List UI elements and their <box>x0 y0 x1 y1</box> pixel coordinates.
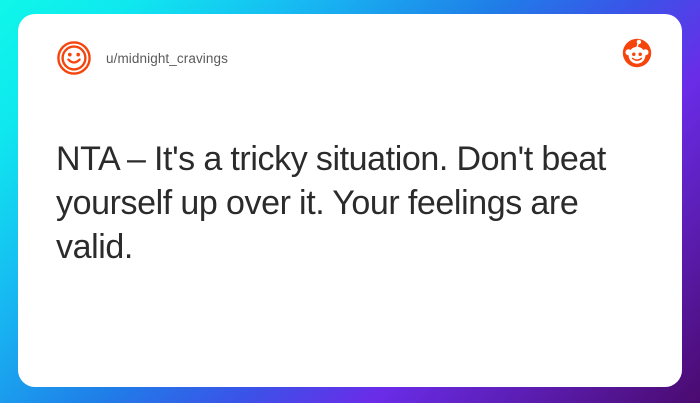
smiley-face-avatar-icon[interactable] <box>56 40 92 76</box>
reddit-post-card: u/midnight_cravings NTA – It's a tricky … <box>18 14 682 387</box>
username-label: u/midnight_cravings <box>106 51 228 66</box>
post-text: NTA – It's a tricky situation. Don't bea… <box>56 138 642 270</box>
reddit-snoo-icon[interactable] <box>622 38 652 68</box>
post-header: u/midnight_cravings <box>38 38 652 78</box>
post-body: NTA – It's a tricky situation. Don't bea… <box>56 138 642 270</box>
screenshot-stage: u/midnight_cravings NTA – It's a tricky … <box>0 0 700 403</box>
